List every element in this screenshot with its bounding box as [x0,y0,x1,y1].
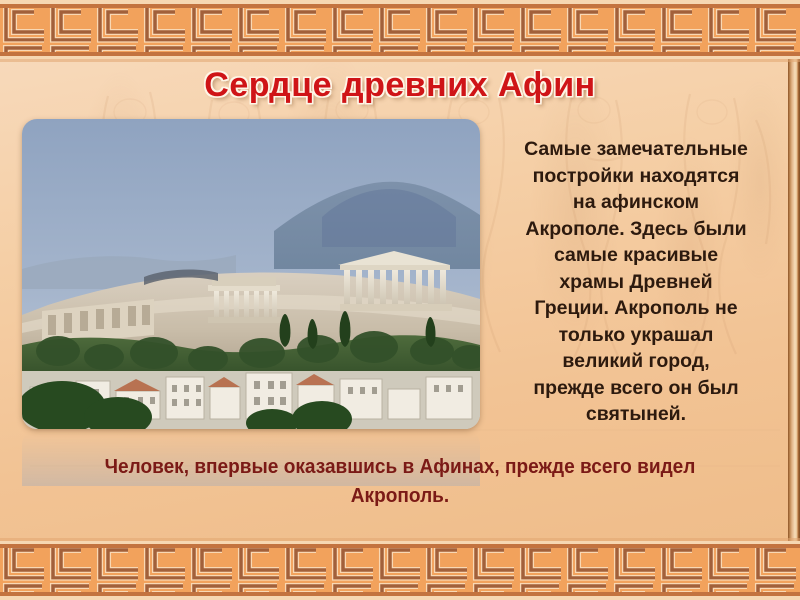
caption-text: Человек, впервые оказавшись в Афинах, пр… [47,452,754,510]
left-frame-border [0,0,12,600]
bottom-meander-border [0,538,800,600]
right-frame-border [788,0,800,600]
acropolis-photo-image [22,119,480,429]
top-meander-border [0,0,800,62]
acropolis-photo [22,119,480,429]
page-title: Сердце древних Афин [0,66,800,105]
slide: Сердце древних Афин Самые замечательные … [0,0,800,600]
acropolis-photo-frame [22,119,480,429]
body-text: Самые замечательные постройки находятся … [489,136,783,428]
